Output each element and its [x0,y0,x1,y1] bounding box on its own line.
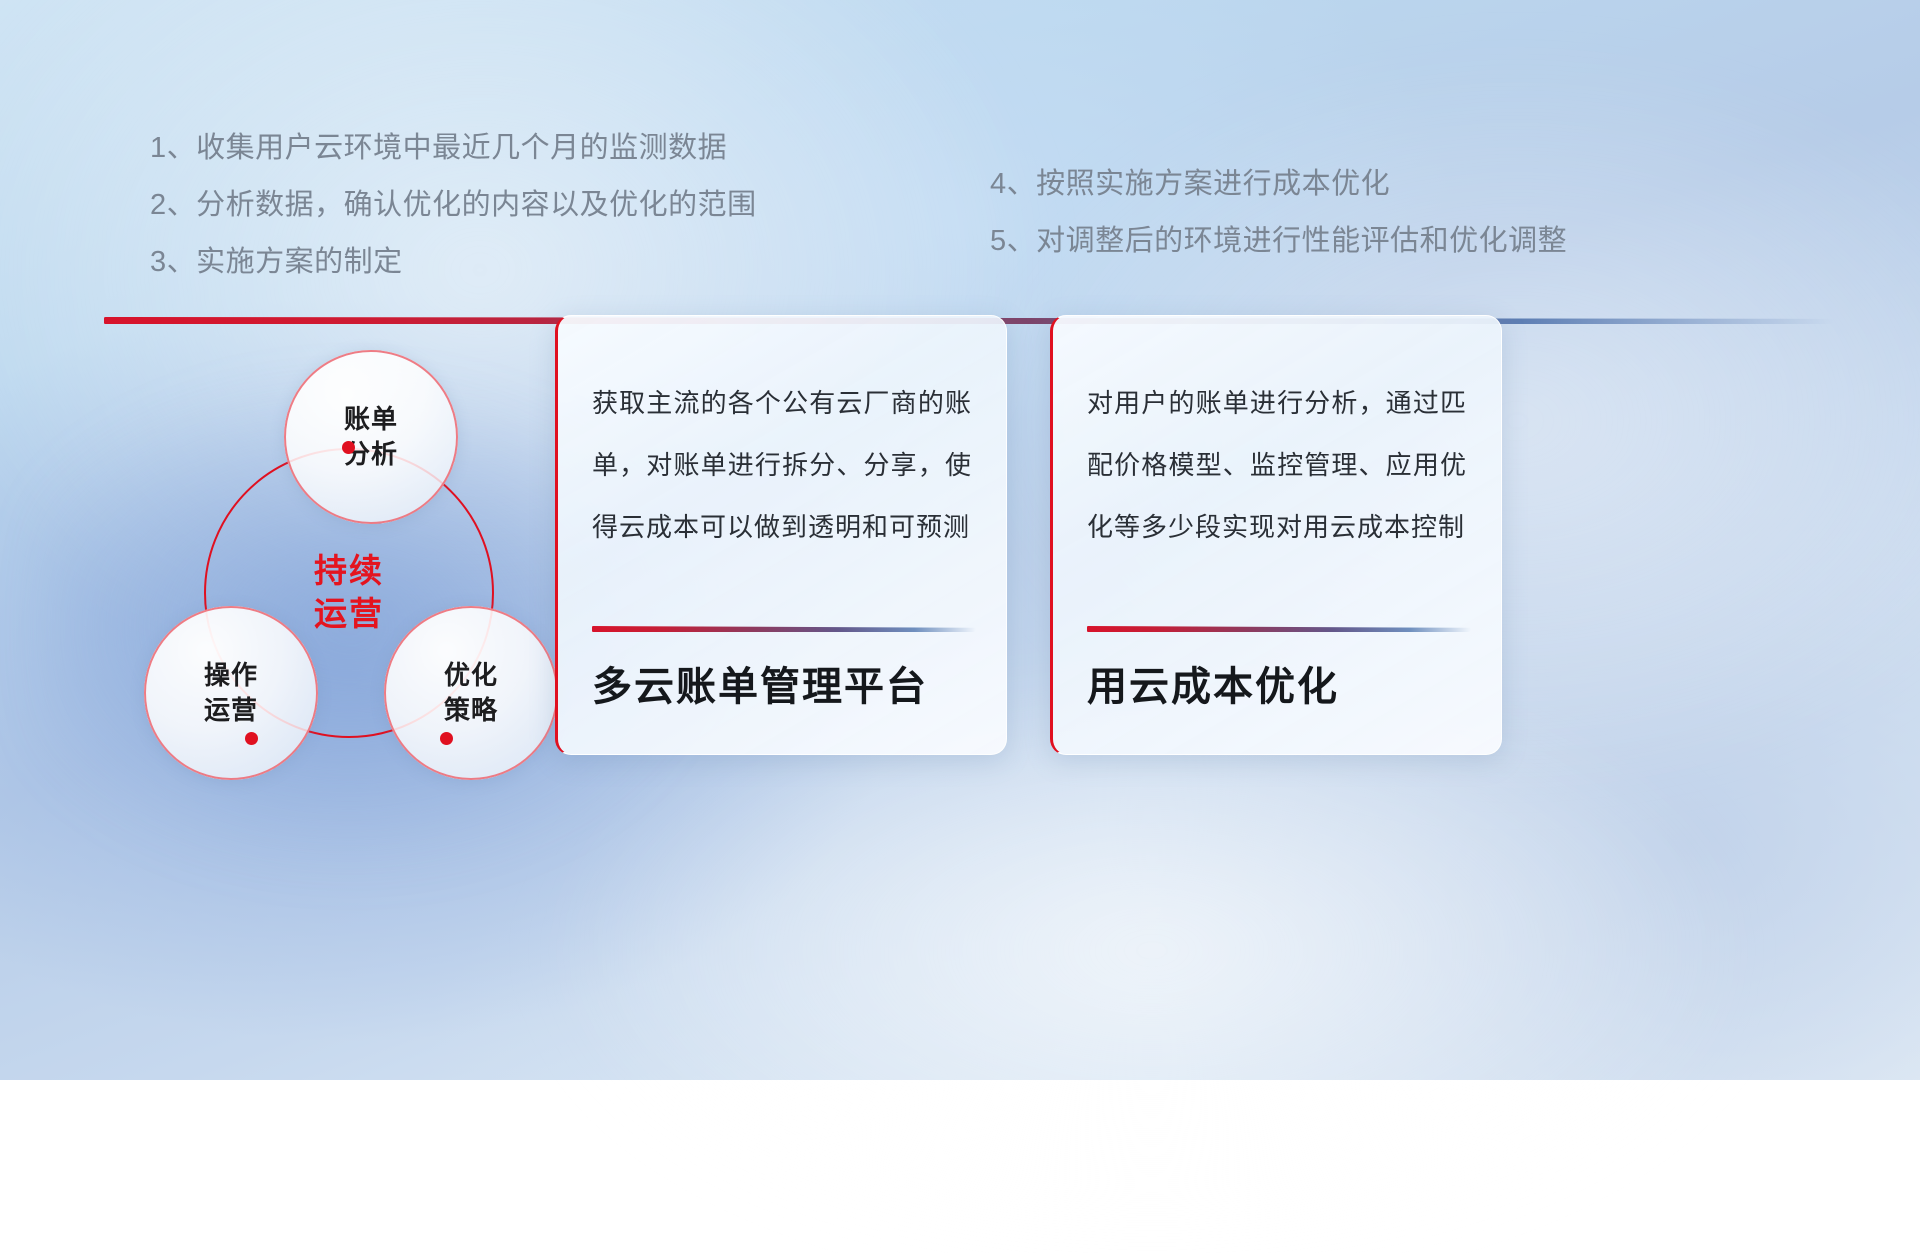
step-item-2: 2、分析数据，确认优化的内容以及优化的范围 [150,177,757,234]
card-divider-rule [592,626,976,632]
connector-dot-bottom-left [245,732,258,745]
step-item-3: 3、实施方案的制定 [150,234,757,291]
card-multi-cloud-billing-platform[interactable]: 获取主流的各个公有云厂商的账单，对账单进行拆分、分享，使得云成本可以做到透明和可… [555,315,1007,755]
connector-dot-top [342,441,355,454]
steps-left-column: 1、收集用户云环境中最近几个月的监测数据 2、分析数据，确认优化的内容以及优化的… [150,120,757,291]
card-title: 多云账单管理平台 [592,654,928,712]
node-ring-bill-analysis [284,350,458,524]
card-divider-rule [1087,626,1471,632]
card-body-text: 获取主流的各个公有云厂商的账单，对账单进行拆分、分享，使得云成本可以做到透明和可… [592,372,972,558]
card-cloud-cost-optimization[interactable]: 对用户的账单进行分析，通过匹配价格模型、监控管理、应用优化等多少段实现对用云成本… [1050,315,1502,755]
step-item-5: 5、对调整后的环境进行性能评估和优化调整 [990,213,1567,270]
node-ring-operations [144,606,318,780]
steps-right-column: 4、按照实施方案进行成本优化 5、对调整后的环境进行性能评估和优化调整 [990,156,1567,270]
node-ring-optimization-strategy [384,606,558,780]
card-body-text: 对用户的账单进行分析，通过匹配价格模型、监控管理、应用优化等多少段实现对用云成本… [1087,372,1467,558]
card-title: 用云成本优化 [1087,654,1339,712]
step-item-4: 4、按照实施方案进行成本优化 [990,156,1567,213]
connector-dot-bottom-right [440,732,453,745]
step-item-1: 1、收集用户云环境中最近几个月的监测数据 [150,120,757,177]
